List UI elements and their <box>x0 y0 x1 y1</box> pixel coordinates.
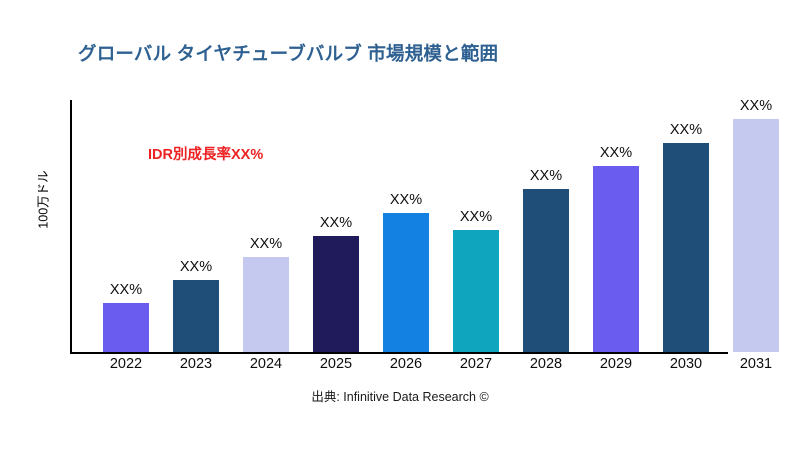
bar-rect-2023[interactable] <box>173 280 219 352</box>
bar-rect-2024[interactable] <box>243 257 289 352</box>
bar-rect-2030[interactable] <box>663 143 709 352</box>
bar-rect-2026[interactable] <box>383 213 429 352</box>
x-tick-2024: 2024 <box>229 356 303 372</box>
bar-rect-2028[interactable] <box>523 189 569 352</box>
source-note: 出典: Infinitive Data Research © <box>0 386 800 405</box>
chart-title: グローバル タイヤチューブバルブ 市場規模と範囲 <box>78 40 738 66</box>
x-tick-2025: 2025 <box>299 356 373 372</box>
bar-rect-2027[interactable] <box>453 230 499 352</box>
growth-rate-annotation: IDR別成長率XX% <box>148 143 263 164</box>
chart-container: グローバル タイヤチューブバルブ 市場規模と範囲 100万ドル XX%XX%XX… <box>0 0 800 450</box>
plot-area: XX%XX%XX%XX%XX%XX%XX%XX%XX%XX% <box>70 100 770 352</box>
bar-series: XX%XX%XX%XX%XX%XX%XX%XX%XX%XX% <box>70 100 770 352</box>
bar-value-label-2028: XX% <box>509 168 583 184</box>
bar-rect-2025[interactable] <box>313 236 359 352</box>
bar-value-label-2029: XX% <box>579 145 653 161</box>
bar-value-label-2023: XX% <box>159 259 233 275</box>
bar-value-label-2026: XX% <box>369 192 443 208</box>
bar-rect-2029[interactable] <box>593 166 639 352</box>
x-tick-2023: 2023 <box>159 356 233 372</box>
bar-rect-2022[interactable] <box>103 303 149 352</box>
x-axis-tick-labels: 2022202320242025202620272028202920302031 <box>70 356 770 380</box>
x-tick-2029: 2029 <box>579 356 653 372</box>
bar-value-label-2025: XX% <box>299 215 373 231</box>
x-tick-2030: 2030 <box>649 356 723 372</box>
bar-value-label-2031: XX% <box>719 98 793 114</box>
bar-value-label-2022: XX% <box>89 282 163 298</box>
y-axis-label: 100万ドル <box>33 140 52 260</box>
x-tick-2028: 2028 <box>509 356 583 372</box>
x-tick-2027: 2027 <box>439 356 513 372</box>
bar-value-label-2030: XX% <box>649 122 723 138</box>
x-axis-line <box>70 352 728 354</box>
x-tick-2031: 2031 <box>719 356 793 372</box>
x-tick-2022: 2022 <box>89 356 163 372</box>
bar-rect-2031[interactable] <box>733 119 779 352</box>
bar-value-label-2024: XX% <box>229 236 303 252</box>
x-tick-2026: 2026 <box>369 356 443 372</box>
bar-value-label-2027: XX% <box>439 209 513 225</box>
